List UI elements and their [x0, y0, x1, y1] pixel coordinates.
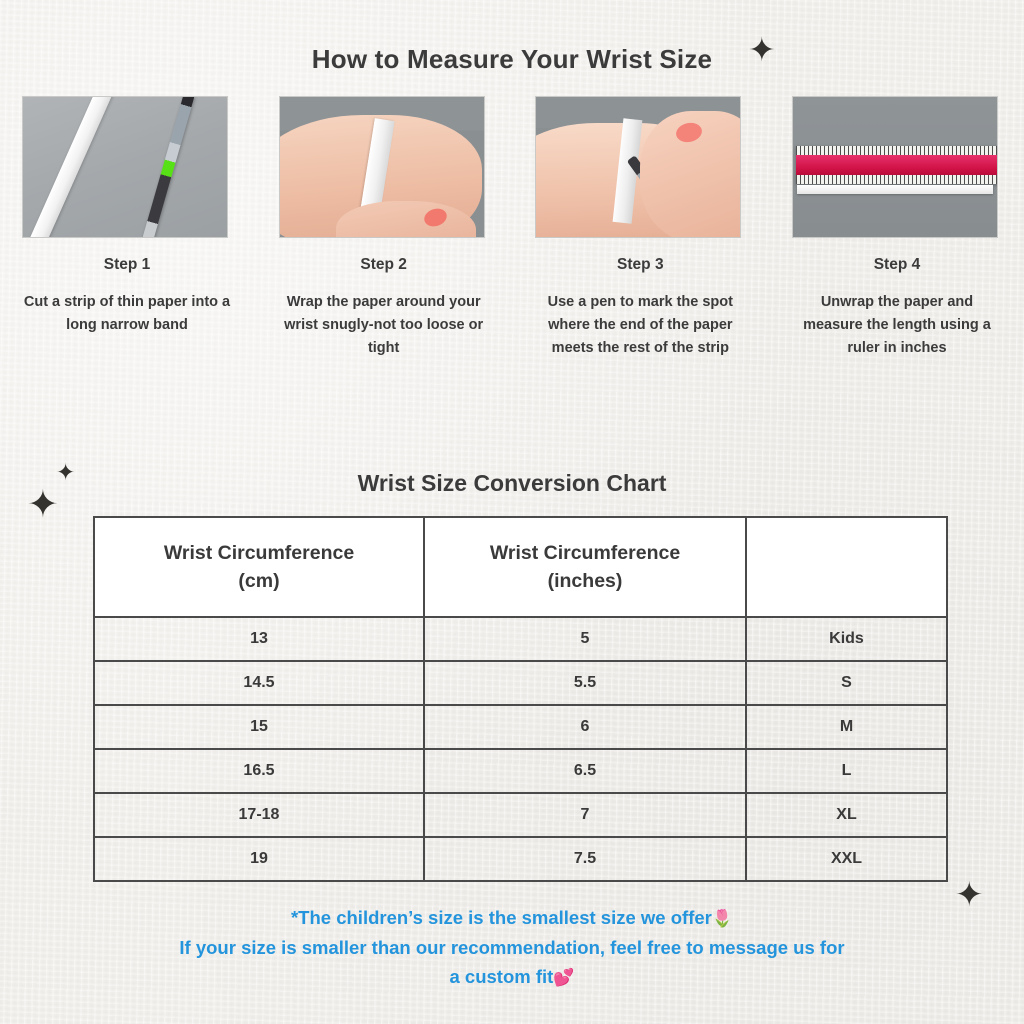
- footer-line-1: *The children’s size is the smallest siz…: [291, 907, 712, 928]
- cell-inches: 5.5: [424, 661, 746, 705]
- paper-strip-shape: [797, 185, 993, 194]
- table-row: 14.5 5.5 S: [94, 661, 947, 705]
- footer-line-2: If your size is smaller than our recomme…: [179, 937, 844, 958]
- cell-size: M: [746, 705, 947, 749]
- cell-size: XL: [746, 793, 947, 837]
- table-header-row: Wrist Circumference (cm) Wrist Circumfer…: [94, 517, 947, 617]
- column-header-inches: Wrist Circumference (inches): [424, 517, 746, 617]
- cell-cm: 16.5: [94, 749, 424, 793]
- table-row: 19 7.5 XXL: [94, 837, 947, 881]
- marking-paper-with-pen-photo: [535, 96, 741, 238]
- step-label-4: Step 4: [792, 256, 1002, 274]
- column-header-inches-line1: Wrist Circumference: [490, 542, 680, 564]
- column-header-cm-line1: Wrist Circumference: [164, 542, 354, 564]
- cell-size: L: [746, 749, 947, 793]
- paper-strip-and-pen-photo: [22, 96, 228, 238]
- cell-cm: 19: [94, 837, 424, 881]
- paper-strip-shape: [22, 96, 124, 238]
- column-header-inches-line2: (inches): [548, 570, 623, 592]
- cell-size: Kids: [746, 617, 947, 661]
- step-description-1: Cut a strip of thin paper into a long na…: [22, 291, 232, 337]
- cell-inches: 5: [424, 617, 746, 661]
- cell-cm: 17-18: [94, 793, 424, 837]
- ruler-body-pink: [796, 155, 998, 175]
- wrist-size-conversion-table: Wrist Circumference (cm) Wrist Circumfer…: [93, 516, 948, 882]
- ruler-ticks-bottom: [796, 175, 998, 184]
- step-item-2: Step 2 Wrap the paper around your wrist …: [279, 96, 489, 360]
- cell-inches: 6: [424, 705, 746, 749]
- step-item-4: Step 4 Unwrap the paper and measure the …: [792, 96, 1002, 360]
- cell-inches: 7: [424, 793, 746, 837]
- step-item-1: Step 1 Cut a strip of thin paper into a …: [22, 96, 232, 360]
- ruler-shape: [796, 146, 998, 184]
- ruler-ticks-top: [796, 146, 998, 155]
- step-description-3: Use a pen to mark the spot where the end…: [535, 291, 745, 360]
- tulip-icon: 🌷: [712, 909, 733, 929]
- cell-cm: 14.5: [94, 661, 424, 705]
- table-head: Wrist Circumference (cm) Wrist Circumfer…: [94, 517, 947, 617]
- paper-wrapped-around-wrist-photo: [279, 96, 485, 238]
- ruler-measuring-paper-photo: [792, 96, 998, 238]
- step-label-3: Step 3: [535, 256, 745, 274]
- column-header-cm: Wrist Circumference (cm): [94, 517, 424, 617]
- cell-inches: 6.5: [424, 749, 746, 793]
- table-row: 13 5 Kids: [94, 617, 947, 661]
- cell-cm: 15: [94, 705, 424, 749]
- step-item-3: Step 3 Use a pen to mark the spot where …: [535, 96, 745, 360]
- sparkle-icon-title: ✦: [748, 33, 776, 66]
- step-label-1: Step 1: [22, 256, 232, 274]
- wrist-size-guide-page: How to Measure Your Wrist Size ✦ ✦ ✦ ✦ S…: [0, 0, 1024, 1024]
- footer-note: *The children’s size is the smallest siz…: [62, 903, 962, 992]
- column-header-size: [746, 517, 947, 617]
- steps-row: Step 1 Cut a strip of thin paper into a …: [0, 96, 1024, 360]
- footer-line-3: a custom fit: [450, 966, 554, 987]
- step-description-4: Unwrap the paper and measure the length …: [792, 291, 1002, 360]
- two-hearts-icon: 💕: [553, 968, 574, 988]
- step-description-2: Wrap the paper around your wrist snugly-…: [279, 291, 489, 360]
- cell-size: XXL: [746, 837, 947, 881]
- cell-inches: 7.5: [424, 837, 746, 881]
- conversion-chart-title: Wrist Size Conversion Chart: [0, 470, 1024, 497]
- table-body: 13 5 Kids 14.5 5.5 S 15 6 M 16.5 6.5 L 1…: [94, 617, 947, 881]
- cell-size: S: [746, 661, 947, 705]
- table-row: 16.5 6.5 L: [94, 749, 947, 793]
- column-header-cm-line2: (cm): [238, 570, 279, 592]
- step-label-2: Step 2: [279, 256, 489, 274]
- pen-shape: [142, 96, 194, 238]
- page-title: How to Measure Your Wrist Size: [0, 44, 1024, 75]
- cell-cm: 13: [94, 617, 424, 661]
- table-row: 15 6 M: [94, 705, 947, 749]
- table-row: 17-18 7 XL: [94, 793, 947, 837]
